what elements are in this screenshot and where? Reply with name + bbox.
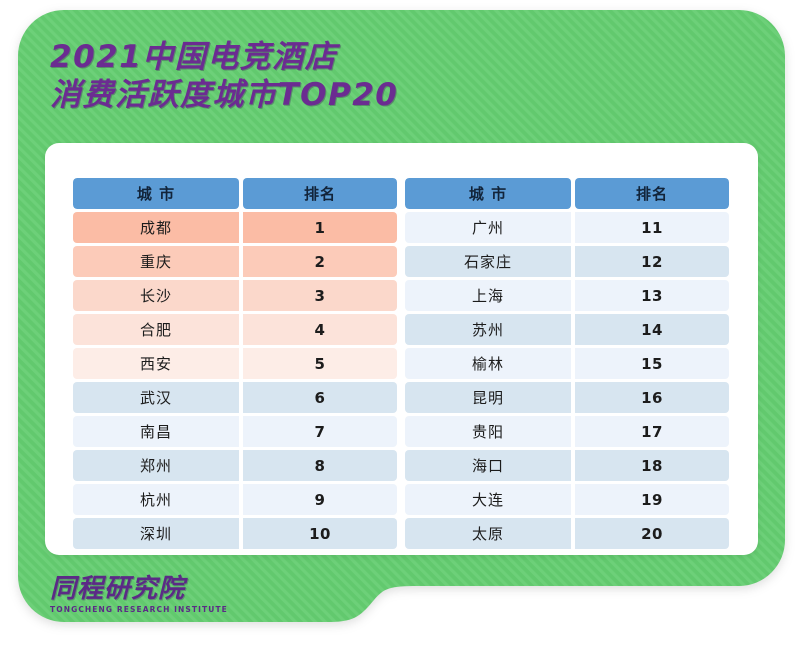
cell-rank: 11 [575, 212, 729, 243]
table-row: 海口18 [405, 450, 729, 481]
cell-rank: 9 [243, 484, 397, 515]
table-row: 昆明16 [405, 382, 729, 413]
table-header-row: 城 市 排名 [73, 178, 397, 209]
cell-rank: 18 [575, 450, 729, 481]
cell-city: 昆明 [405, 382, 571, 413]
poster-card: 2021中国电竞酒店 消费活跃度城市TOP20 城 市 排名 成都1重庆2长沙3… [18, 10, 785, 622]
table-row: 广州11 [405, 212, 729, 243]
cell-city: 成都 [73, 212, 239, 243]
column-header-city: 城 市 [73, 178, 239, 209]
table-row: 苏州14 [405, 314, 729, 345]
table-row: 成都1 [73, 212, 397, 243]
right-table-body: 广州11石家庄12上海13苏州14榆林15昆明16贵阳17海口18大连19太原2… [405, 212, 729, 549]
right-ranking-table: 城 市 排名 广州11石家庄12上海13苏州14榆林15昆明16贵阳17海口18… [405, 178, 729, 552]
cell-city: 西安 [73, 348, 239, 379]
cell-rank: 17 [575, 416, 729, 447]
cell-rank: 13 [575, 280, 729, 311]
cell-rank: 1 [243, 212, 397, 243]
ranking-tables: 城 市 排名 成都1重庆2长沙3合肥4西安5武汉6南昌7郑州8杭州9深圳10 城… [73, 178, 730, 552]
cell-rank: 4 [243, 314, 397, 345]
column-header-rank: 排名 [243, 178, 397, 209]
table-header-row: 城 市 排名 [405, 178, 729, 209]
table-row: 榆林15 [405, 348, 729, 379]
table-row: 太原20 [405, 518, 729, 549]
cell-city: 深圳 [73, 518, 239, 549]
cell-rank: 8 [243, 450, 397, 481]
page-title: 2021中国电竞酒店 消费活跃度城市TOP20 [50, 38, 398, 114]
cell-rank: 5 [243, 348, 397, 379]
cell-rank: 20 [575, 518, 729, 549]
table-row: 杭州9 [73, 484, 397, 515]
cell-rank: 16 [575, 382, 729, 413]
table-row: 大连19 [405, 484, 729, 515]
cell-city: 杭州 [73, 484, 239, 515]
column-header-rank: 排名 [575, 178, 729, 209]
cell-city: 榆林 [405, 348, 571, 379]
column-header-city: 城 市 [405, 178, 571, 209]
cell-city: 海口 [405, 450, 571, 481]
cell-city: 重庆 [73, 246, 239, 277]
logo-english-name: TONGCHENG RESEARCH INSTITUTE [50, 605, 228, 614]
cell-city: 合肥 [73, 314, 239, 345]
cell-rank: 7 [243, 416, 397, 447]
cell-rank: 6 [243, 382, 397, 413]
table-row: 郑州8 [73, 450, 397, 481]
table-row: 长沙3 [73, 280, 397, 311]
left-ranking-table: 城 市 排名 成都1重庆2长沙3合肥4西安5武汉6南昌7郑州8杭州9深圳10 [73, 178, 397, 552]
cell-rank: 15 [575, 348, 729, 379]
table-row: 上海13 [405, 280, 729, 311]
cell-rank: 12 [575, 246, 729, 277]
cell-city: 南昌 [73, 416, 239, 447]
tongcheng-research-institute-logo: 同程研究院 TONGCHENG RESEARCH INSTITUTE [50, 575, 228, 614]
cell-rank: 14 [575, 314, 729, 345]
table-row: 合肥4 [73, 314, 397, 345]
cell-city: 太原 [405, 518, 571, 549]
cell-city: 广州 [405, 212, 571, 243]
cell-city: 石家庄 [405, 246, 571, 277]
cell-rank: 3 [243, 280, 397, 311]
title-line-2: 消费活跃度城市TOP20 [50, 76, 398, 114]
cell-city: 大连 [405, 484, 571, 515]
table-row: 重庆2 [73, 246, 397, 277]
content-panel: 城 市 排名 成都1重庆2长沙3合肥4西安5武汉6南昌7郑州8杭州9深圳10 城… [45, 143, 758, 555]
table-row: 深圳10 [73, 518, 397, 549]
cell-city: 郑州 [73, 450, 239, 481]
cell-city: 上海 [405, 280, 571, 311]
table-row: 石家庄12 [405, 246, 729, 277]
cell-city: 苏州 [405, 314, 571, 345]
cell-rank: 10 [243, 518, 397, 549]
cell-rank: 2 [243, 246, 397, 277]
cell-city: 长沙 [73, 280, 239, 311]
cell-city: 武汉 [73, 382, 239, 413]
logo-chinese-name: 同程研究院 [50, 575, 228, 603]
left-table-body: 成都1重庆2长沙3合肥4西安5武汉6南昌7郑州8杭州9深圳10 [73, 212, 397, 549]
title-line-1: 2021中国电竞酒店 [50, 38, 398, 76]
cell-rank: 19 [575, 484, 729, 515]
table-row: 西安5 [73, 348, 397, 379]
table-row: 南昌7 [73, 416, 397, 447]
table-row: 武汉6 [73, 382, 397, 413]
table-row: 贵阳17 [405, 416, 729, 447]
cell-city: 贵阳 [405, 416, 571, 447]
